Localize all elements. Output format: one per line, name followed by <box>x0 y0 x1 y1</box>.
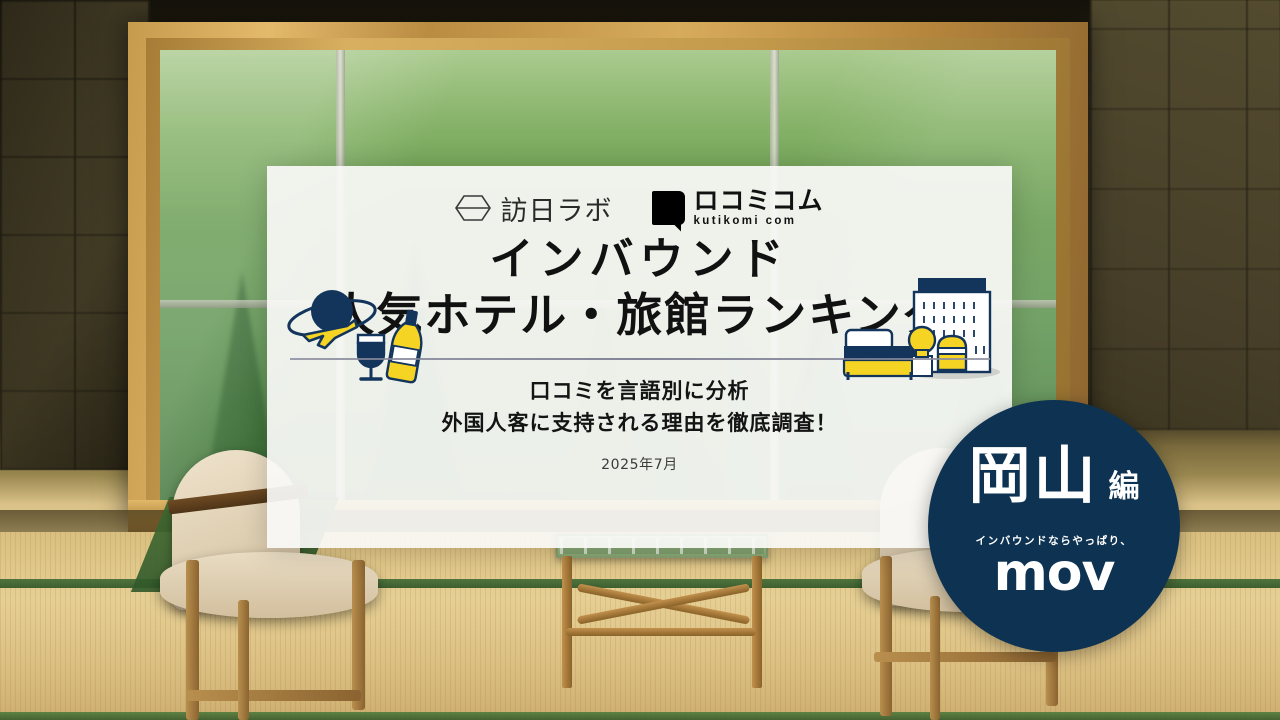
speech-bubble-icon <box>652 191 685 225</box>
decoration-group-right <box>842 268 1002 393</box>
wine-bottle-icon <box>386 308 427 383</box>
kutikomi-logo-en: kutikomi com <box>693 216 823 228</box>
title-block: インバウンド 人気ホテル・旅館ランキング <box>267 234 1012 342</box>
publish-date: 2025年7月 <box>267 454 1012 474</box>
wine-glass-icon <box>358 335 384 379</box>
houlab-logo-text: 訪日ラボ <box>500 189 612 228</box>
subtitle-line2: 外国人客に支持される理由を徹底調査！ <box>267 408 1012 440</box>
edition-badge: 岡山 編 インバウンドならやっぱり、 mov <box>928 400 1180 652</box>
mov-logo[interactable]: mov <box>994 546 1115 601</box>
logo-row: 訪日ラボ ロコミコム kutikomi com <box>267 166 1012 228</box>
hexagon-icon <box>455 193 491 223</box>
title-divider <box>290 358 990 360</box>
kutikomi-logo-jp: ロコミコム <box>693 188 823 213</box>
bed-lamp-icon <box>844 327 935 380</box>
title-card: 訪日ラボ ロコミコム kutikomi com <box>267 166 1012 548</box>
edition-row: 岡山 編 <box>968 445 1139 507</box>
houlab-logo[interactable]: 訪日ラボ <box>455 189 612 228</box>
shoji-screen-right <box>1090 0 1280 430</box>
decoration-group-left <box>285 286 435 396</box>
prefecture-label: 岡山 <box>968 445 1098 507</box>
kutikomi-logo[interactable]: ロコミコム kutikomi com <box>652 188 823 228</box>
edition-label: 編 <box>1109 472 1140 503</box>
